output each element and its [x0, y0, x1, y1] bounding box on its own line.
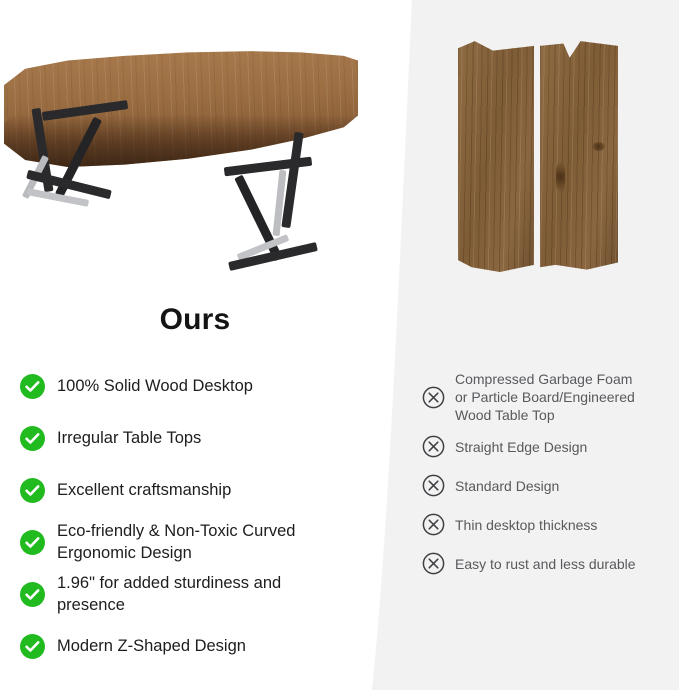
others-feature-label: Straight Edge Design — [455, 438, 587, 456]
check-circle-icon — [20, 582, 45, 607]
others-feature-label: Thin desktop thickness — [455, 516, 597, 534]
ours-feature-label: 100% Solid Wood Desktop — [57, 375, 253, 397]
others-feature-label: Compressed Garbage Foam or Particle Boar… — [455, 370, 635, 424]
wood-planks-illustration — [452, 34, 622, 272]
check-circle-icon — [20, 634, 45, 659]
wood-knot — [592, 142, 605, 151]
others-feature-item: Standard Design — [421, 469, 671, 502]
others-feature-item: Compressed Garbage Foam or Particle Boar… — [421, 370, 671, 424]
wood-plank-left — [458, 34, 534, 272]
ours-heading: Ours — [0, 303, 390, 337]
wood-plank-right — [540, 34, 618, 272]
ours-feature-item: 100% Solid Wood Desktop — [20, 364, 370, 408]
wood-knot — [556, 162, 565, 192]
ours-product-image — [0, 22, 380, 282]
others-feature-label: Easy to rust and less durable — [455, 555, 636, 573]
cross-circle-icon — [421, 473, 446, 498]
ours-feature-label: Irregular Table Tops — [57, 427, 201, 449]
wood-table-illustration — [0, 22, 380, 282]
others-feature-item: Thin desktop thickness — [421, 508, 671, 541]
ours-feature-label: Eco-friendly & Non-Toxic Curved Ergonomi… — [57, 520, 295, 564]
ours-feature-item: Modern Z-Shaped Design — [20, 624, 370, 668]
ours-feature-item: Eco-friendly & Non-Toxic Curved Ergonomi… — [20, 520, 370, 564]
others-feature-item: Easy to rust and less durable — [421, 547, 671, 580]
others-feature-label: Standard Design — [455, 477, 559, 495]
cross-circle-icon — [421, 434, 446, 459]
ours-feature-item: 1.96" for added sturdiness and presence — [20, 572, 370, 616]
ours-feature-item: Irregular Table Tops — [20, 416, 370, 460]
check-circle-icon — [20, 478, 45, 503]
cross-circle-icon — [421, 385, 446, 410]
ours-feature-item: Excellent craftsmanship — [20, 468, 370, 512]
others-product-image — [452, 34, 622, 272]
ours-feature-label: Excellent craftsmanship — [57, 479, 231, 501]
comparison-infographic: Ours 100% Solid Wood Desktop Irregular T… — [0, 0, 679, 690]
ours-column: Ours 100% Solid Wood Desktop Irregular T… — [0, 0, 400, 690]
cross-circle-icon — [421, 551, 446, 576]
check-circle-icon — [20, 530, 45, 555]
others-feature-list: Compressed Garbage Foam or Particle Boar… — [421, 370, 671, 586]
ours-feature-list: 100% Solid Wood Desktop Irregular Table … — [20, 364, 370, 676]
ours-feature-label: Modern Z-Shaped Design — [57, 635, 246, 657]
others-feature-item: Straight Edge Design — [421, 430, 671, 463]
check-circle-icon — [20, 374, 45, 399]
ours-feature-label: 1.96" for added sturdiness and presence — [57, 572, 281, 616]
cross-circle-icon — [421, 512, 446, 537]
check-circle-icon — [20, 426, 45, 451]
